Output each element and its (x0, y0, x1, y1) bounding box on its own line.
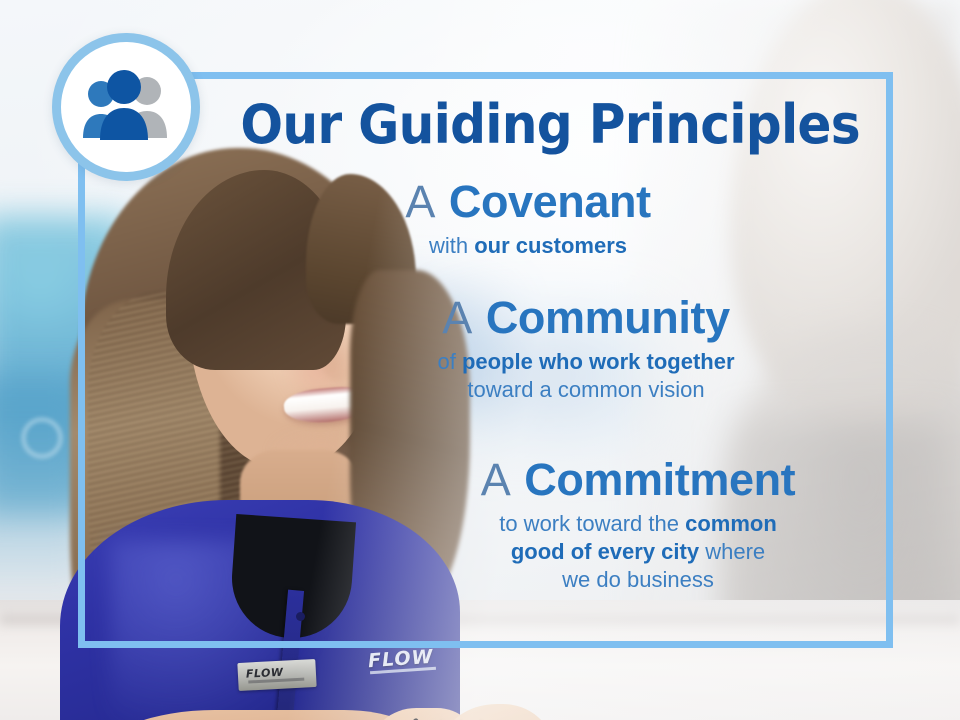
guiding-principles-poster: FLOW FLOW (0, 0, 960, 720)
principle-commitment: A Commitment to work toward the common g… (378, 456, 898, 594)
principle-covenant-keyword: Covenant (449, 176, 651, 227)
employee-name-badge: FLOW (237, 659, 316, 691)
principle-covenant-subline-1: with our customers (268, 232, 788, 260)
subline-segment: toward a common vision (467, 377, 704, 402)
poster-content: Our Guiding Principles A Covenant with o… (78, 72, 893, 648)
principle-commitment-heading: A Commitment (378, 456, 898, 504)
subline-segment-bold: common (685, 511, 777, 536)
principle-commitment-subline-2: good of every city where (378, 538, 898, 566)
principle-community-heading: A Community (326, 294, 846, 342)
subline-segment: of (437, 349, 461, 374)
principle-covenant-subtext: with our customers (268, 232, 788, 260)
principle-community-subline-2: toward a common vision (326, 376, 846, 404)
subline-segment: we do business (562, 567, 714, 592)
blurred-dealer-logo (22, 418, 62, 458)
principle-covenant: A Covenant with our customers (268, 178, 788, 260)
principle-commitment-article: A (481, 454, 512, 505)
subline-segment-bold: good of every city (511, 539, 699, 564)
principle-commitment-subline-3: we do business (378, 566, 898, 594)
page-title: Our Guiding Principles (240, 98, 835, 152)
principle-commitment-keyword: Commitment (524, 454, 795, 505)
subline-segment: with (429, 233, 474, 258)
subline-segment: to work toward the (499, 511, 685, 536)
principle-community-subtext: of people who work together toward a com… (326, 348, 846, 404)
subline-segment: where (699, 539, 765, 564)
principle-community: A Community of people who work together … (326, 294, 846, 404)
principle-covenant-article: A (405, 176, 436, 227)
subline-segment-bold: our customers (474, 233, 627, 258)
principle-community-subline-1: of people who work together (326, 348, 846, 376)
principle-commitment-subline-1: to work toward the common (378, 510, 898, 538)
principle-commitment-subtext: to work toward the common good of every … (378, 510, 898, 594)
subline-segment-bold: people who work together (462, 349, 735, 374)
principle-community-keyword: Community (486, 292, 730, 343)
principle-covenant-heading: A Covenant (268, 178, 788, 226)
principle-community-article: A (442, 292, 473, 343)
